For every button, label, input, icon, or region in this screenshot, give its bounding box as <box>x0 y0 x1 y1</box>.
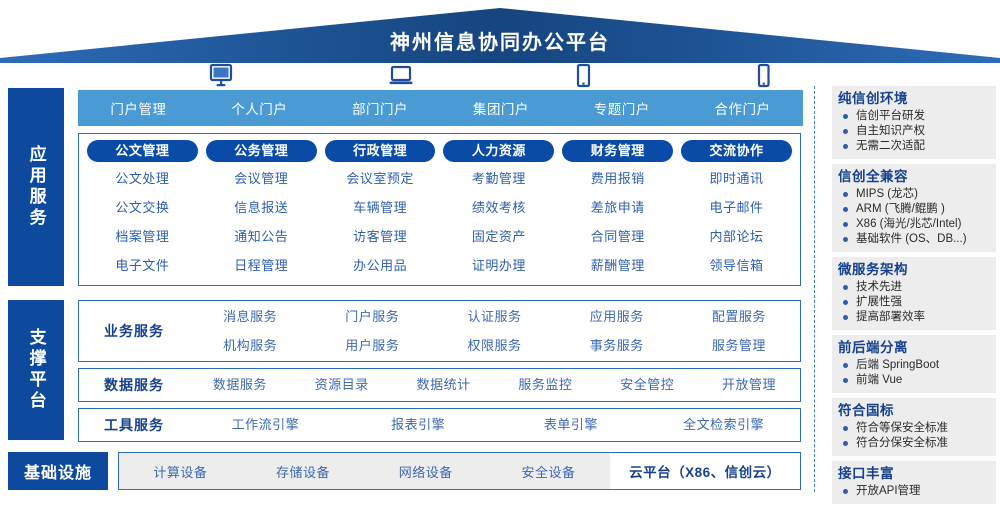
business-service-item[interactable]: 门户服务 <box>311 302 433 331</box>
bullet-icon <box>843 222 848 227</box>
sidebar-list-item: ARM (飞腾/鲲鹏 ) <box>838 202 990 217</box>
application-item[interactable]: 访客管理 <box>325 222 436 251</box>
application-category[interactable]: 行政管理 <box>325 140 436 162</box>
bullet-icon <box>843 144 848 149</box>
sidebar-list-item: 开放API管理 <box>838 484 990 499</box>
business-services-panel: 业务服务 消息服务 门户服务 认证服务 应用服务 配置服务 机构服务 用户服务 … <box>78 300 801 362</box>
application-item[interactable]: 证明办理 <box>443 251 554 280</box>
data-service-item[interactable]: 数据服务 <box>189 371 291 399</box>
sidebar-section-national-standard: 符合国标 符合等保安全标准 符合分保安全标准 <box>832 398 996 456</box>
bullet-icon <box>843 363 848 368</box>
business-services-row: 机构服务 用户服务 权限服务 事务服务 服务管理 <box>189 331 800 360</box>
sidebar-section-title: 纯信创环境 <box>838 90 990 108</box>
application-item[interactable]: 通知公告 <box>206 222 317 251</box>
layer-label-support-platform: 支撑平台 <box>8 300 64 440</box>
application-category[interactable]: 公务管理 <box>206 140 317 162</box>
sidebar-section-title: 接口丰富 <box>838 465 990 483</box>
application-item[interactable]: 日程管理 <box>206 251 317 280</box>
data-services-row: 数据服务 资源目录 数据统计 服务监控 安全管控 开放管理 <box>189 371 800 399</box>
application-category[interactable]: 人力资源 <box>443 140 554 162</box>
application-item[interactable]: 合同管理 <box>562 222 673 251</box>
application-item[interactable]: 会议管理 <box>206 164 317 193</box>
sidebar-list-item: 技术先进 <box>838 280 990 295</box>
bullet-icon <box>843 207 848 212</box>
bullet-icon <box>843 192 848 197</box>
data-services-items: 数据服务 资源目录 数据统计 服务监控 安全管控 开放管理 <box>189 371 800 399</box>
application-item-row: 电子文件 日程管理 办公用品 证明办理 薪酬管理 领导信箱 <box>79 251 800 280</box>
sidebar-section-pure-xinchuang: 纯信创环境 信创平台研发 自主知识产权 无需二次适配 <box>832 86 996 159</box>
data-services-panel: 数据服务 数据服务 资源目录 数据统计 服务监控 安全管控 开放管理 <box>78 368 801 402</box>
sidebar-list-item: 扩展性强 <box>838 295 990 310</box>
sidebar-section-frontend-backend-separation: 前后端分离 后端 SpringBoot 前端 Vue <box>832 335 996 393</box>
application-item[interactable]: 电子邮件 <box>681 193 792 222</box>
infrastructure-item[interactable]: 安全设备 <box>487 453 610 489</box>
sidebar-list-item-text: 后端 SpringBoot <box>856 359 939 371</box>
application-item[interactable]: 薪酬管理 <box>562 251 673 280</box>
tool-service-item[interactable]: 全文检索引擎 <box>647 411 800 439</box>
business-service-item[interactable]: 权限服务 <box>433 331 555 360</box>
sidebar-list-item: 基础软件 (OS、DB...) <box>838 232 990 247</box>
bullet-icon <box>843 315 848 320</box>
laptop-icon <box>388 63 414 89</box>
bullet-icon <box>843 237 848 242</box>
platform-title: 神州信息协同办公平台 <box>0 26 1000 55</box>
tool-services-items: 工作流引擎 报表引擎 表单引擎 全文检索引擎 <box>189 411 800 439</box>
sidebar-list-item-text: 技术先进 <box>856 281 902 293</box>
infrastructure-item[interactable]: 存储设备 <box>242 453 365 489</box>
application-item[interactable]: 会议室预定 <box>325 164 436 193</box>
layer-label-infrastructure-text: 基础设施 <box>24 459 92 483</box>
application-category[interactable]: 交流协作 <box>681 140 792 162</box>
tool-service-item[interactable]: 工作流引擎 <box>189 411 342 439</box>
application-category-row: 公文管理 公务管理 行政管理 人力资源 财务管理 交流协作 <box>79 134 800 164</box>
bullet-icon <box>843 285 848 290</box>
application-item[interactable]: 固定资产 <box>443 222 554 251</box>
sidebar-section-microservice: 微服务架构 技术先进 扩展性强 提高部署效率 <box>832 257 996 330</box>
roof-banner: 神州信息协同办公平台 <box>0 4 1000 64</box>
feature-sidebar: 纯信创环境 信创平台研发 自主知识产权 无需二次适配 信创全兼容 MIPS (龙… <box>832 86 996 509</box>
data-services-title: 数据服务 <box>79 375 189 395</box>
tablet-icon <box>570 63 596 89</box>
application-item[interactable]: 信息报送 <box>206 193 317 222</box>
portal-item[interactable]: 合作门户 <box>682 98 803 118</box>
business-service-item[interactable]: 事务服务 <box>556 331 678 360</box>
portal-bar: 门户管理 个人门户 部门门户 集团门户 专题门户 合作门户 <box>78 90 803 126</box>
sidebar-section-rich-interfaces: 接口丰富 开放API管理 <box>832 461 996 504</box>
infrastructure-item[interactable]: 计算设备 <box>119 453 242 489</box>
application-item[interactable]: 内部论坛 <box>681 222 792 251</box>
tool-services-panel: 工具服务 工作流引擎 报表引擎 表单引擎 全文检索引擎 <box>78 408 801 442</box>
sidebar-list-item-text: 符合等保安全标准 <box>856 422 948 434</box>
sidebar-list-item-text: 符合分保安全标准 <box>856 437 948 449</box>
portal-item[interactable]: 集团门户 <box>440 98 561 118</box>
sidebar-section-full-compatibility: 信创全兼容 MIPS (龙芯) ARM (飞腾/鲲鹏 ) X86 (海光/兆芯/… <box>832 164 996 252</box>
business-service-item[interactable]: 配置服务 <box>678 302 800 331</box>
data-service-item[interactable]: 开放管理 <box>698 371 800 399</box>
application-item[interactable]: 差旅申请 <box>562 193 673 222</box>
sidebar-list-item-text: ARM (飞腾/鲲鹏 ) <box>856 203 945 215</box>
sidebar-section-title: 微服务架构 <box>838 261 990 279</box>
bullet-icon <box>843 129 848 134</box>
sidebar-section-title: 符合国标 <box>838 402 990 420</box>
application-services-panel: 公文管理 公务管理 行政管理 人力资源 财务管理 交流协作 公文处理 会议管理 … <box>78 133 801 286</box>
sidebar-list-item-text: 开放API管理 <box>856 485 921 497</box>
application-item[interactable]: 领导信箱 <box>681 251 792 280</box>
business-services-row: 消息服务 门户服务 认证服务 应用服务 配置服务 <box>189 302 800 331</box>
application-item[interactable]: 车辆管理 <box>325 193 436 222</box>
application-item-row: 公文处理 会议管理 会议室预定 考勤管理 费用报销 即时通讯 <box>79 164 800 193</box>
bullet-icon <box>843 300 848 305</box>
application-item[interactable]: 考勤管理 <box>443 164 554 193</box>
bullet-icon <box>843 426 848 431</box>
tool-service-item[interactable]: 报表引擎 <box>342 411 495 439</box>
sidebar-list-item: 提高部署效率 <box>838 310 990 325</box>
portal-item[interactable]: 专题门户 <box>561 98 682 118</box>
sidebar-list-item-text: 提高部署效率 <box>856 311 925 323</box>
business-service-item[interactable]: 消息服务 <box>189 302 311 331</box>
sidebar-list-item: 信创平台研发 <box>838 109 990 124</box>
business-service-item[interactable]: 认证服务 <box>433 302 555 331</box>
infrastructure-item[interactable]: 网络设备 <box>364 453 487 489</box>
sidebar-list-item-text: 信创平台研发 <box>856 110 925 122</box>
sidebar-list-item-text: 前端 Vue <box>856 374 902 386</box>
business-services-title: 业务服务 <box>79 321 189 341</box>
sidebar-list-item: 自主知识产权 <box>838 124 990 139</box>
sidebar-list-item-text: 扩展性强 <box>856 296 902 308</box>
application-item[interactable]: 电子文件 <box>87 251 198 280</box>
infrastructure-panel: 计算设备 存储设备 网络设备 安全设备 云平台（X86、信创云） <box>118 452 801 490</box>
data-service-item[interactable]: 服务监控 <box>494 371 596 399</box>
data-service-item[interactable]: 数据统计 <box>393 371 495 399</box>
application-item[interactable]: 绩效考核 <box>443 193 554 222</box>
layer-label-application-services: 应用服务 <box>8 88 64 286</box>
tool-service-item[interactable]: 表单引擎 <box>495 411 648 439</box>
bullet-icon <box>843 378 848 383</box>
portal-item[interactable]: 个人门户 <box>199 98 320 118</box>
sidebar-list-item: 前端 Vue <box>838 373 990 388</box>
application-item[interactable]: 公文交换 <box>87 193 198 222</box>
application-item-row: 档案管理 通知公告 访客管理 固定资产 合同管理 内部论坛 <box>79 222 800 251</box>
vertical-dashed-divider <box>814 86 815 492</box>
infrastructure-cloud-platform[interactable]: 云平台（X86、信创云） <box>610 453 800 489</box>
business-service-item[interactable]: 用户服务 <box>311 331 433 360</box>
application-item[interactable]: 费用报销 <box>562 164 673 193</box>
sidebar-list-item: 符合等保安全标准 <box>838 421 990 436</box>
sidebar-list-item: MIPS (龙芯) <box>838 187 990 202</box>
sidebar-list-item: 后端 SpringBoot <box>838 358 990 373</box>
application-item[interactable]: 办公用品 <box>325 251 436 280</box>
sidebar-list-item-text: 基础软件 (OS、DB...) <box>856 233 967 245</box>
business-service-item[interactable]: 应用服务 <box>556 302 678 331</box>
portal-item[interactable]: 部门门户 <box>320 98 441 118</box>
application-item[interactable]: 档案管理 <box>87 222 198 251</box>
sidebar-section-title: 信创全兼容 <box>838 168 990 186</box>
architecture-diagram: 神州信息协同办公平台 <box>0 0 1000 500</box>
tool-services-row: 工作流引擎 报表引擎 表单引擎 全文检索引擎 <box>189 411 800 439</box>
application-category[interactable]: 公文管理 <box>87 140 198 162</box>
business-service-item[interactable]: 服务管理 <box>678 331 800 360</box>
smartphone-icon <box>750 63 776 89</box>
layer-label-application-services-text: 应用服务 <box>25 145 46 229</box>
application-category[interactable]: 财务管理 <box>562 140 673 162</box>
business-services-items: 消息服务 门户服务 认证服务 应用服务 配置服务 机构服务 用户服务 权限服务 … <box>189 302 800 360</box>
tool-services-title: 工具服务 <box>79 415 189 435</box>
bullet-icon <box>843 441 848 446</box>
portal-item[interactable]: 门户管理 <box>78 98 199 118</box>
application-item-row: 公文交换 信息报送 车辆管理 绩效考核 差旅申请 电子邮件 <box>79 193 800 222</box>
application-item[interactable]: 即时通讯 <box>681 164 792 193</box>
bullet-icon <box>843 114 848 119</box>
data-service-item[interactable]: 安全管控 <box>596 371 698 399</box>
sidebar-list-item: 无需二次适配 <box>838 139 990 154</box>
sidebar-list-item: X86 (海光/兆芯/Intel) <box>838 217 990 232</box>
data-service-item[interactable]: 资源目录 <box>291 371 393 399</box>
sidebar-list-item: 符合分保安全标准 <box>838 436 990 451</box>
device-icon-row <box>80 63 800 91</box>
sidebar-list-item-text: X86 (海光/兆芯/Intel) <box>856 218 961 230</box>
desktop-monitor-icon <box>208 63 234 89</box>
sidebar-section-title: 前后端分离 <box>838 339 990 357</box>
layer-label-support-platform-text: 支撑平台 <box>25 328 46 412</box>
bullet-icon <box>843 489 848 494</box>
sidebar-list-item-text: MIPS (龙芯) <box>856 188 918 200</box>
sidebar-list-item-text: 无需二次适配 <box>856 140 925 152</box>
application-item[interactable]: 公文处理 <box>87 164 198 193</box>
sidebar-list-item-text: 自主知识产权 <box>856 125 925 137</box>
business-service-item[interactable]: 机构服务 <box>189 331 311 360</box>
layer-label-infrastructure: 基础设施 <box>8 452 108 490</box>
